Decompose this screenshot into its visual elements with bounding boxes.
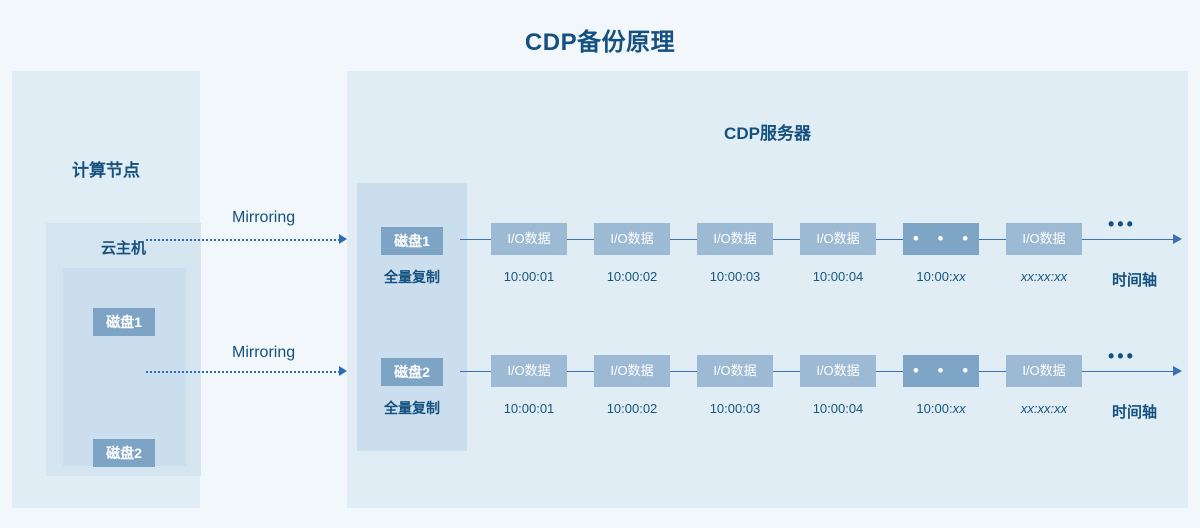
io-timestamp: 10:00:04 [786, 401, 890, 416]
server-disk-1-chip[interactable]: 磁盘1 [381, 227, 443, 255]
timeline-axis-label-row-1: 时间轴 [1112, 269, 1157, 290]
mirroring-arrow-row-2 [339, 366, 347, 376]
io-box-label: I/O数据 [507, 363, 550, 378]
io-timestamp-text: 10:00:01 [504, 401, 555, 416]
io-timestamp: 10:00:02 [580, 269, 684, 284]
mirroring-label-row-1: Mirroring [232, 209, 295, 227]
io-box-label: I/O数据 [507, 231, 550, 246]
io-timestamp: xx:xx:xx [992, 401, 1096, 416]
diagram-canvas: CDP备份原理 计算节点 云主机 磁盘1 磁盘2 Mirroring Mirro… [0, 0, 1200, 528]
io-box-label: I/O数据 [610, 231, 653, 246]
io-timestamp-italic: xx [953, 401, 966, 416]
io-timestamp-text: 10:00:04 [813, 401, 864, 416]
io-timestamp-text: 10:00:03 [710, 269, 761, 284]
io-box-label: • • • [907, 355, 975, 387]
io-box[interactable]: I/O数据 [594, 223, 670, 255]
io-box-label: • • • [907, 223, 975, 255]
io-box[interactable]: I/O数据 [697, 223, 773, 255]
io-timestamp: 10:00:01 [477, 401, 581, 416]
io-timestamp-text: 10:00:01 [504, 269, 555, 284]
cdp-server-panel: CDP服务器 磁盘1 全量复制 磁盘2 全量复制 I/O数据 I/O数据 I/O… [347, 71, 1188, 508]
io-timestamp-text: 10:00:03 [710, 401, 761, 416]
io-box-ellipsis[interactable]: • • • [903, 223, 979, 255]
mirroring-line-row-2 [146, 371, 340, 373]
io-timestamp: 10:00:02 [580, 401, 684, 416]
io-box-label: I/O数据 [713, 363, 756, 378]
io-timestamp-italic: xx:xx:xx [1021, 401, 1067, 416]
io-box-label: I/O数据 [713, 231, 756, 246]
io-box[interactable]: I/O数据 [1006, 355, 1082, 387]
io-timestamp-text: 10:00:04 [813, 269, 864, 284]
cdp-server-title: CDP服务器 [347, 119, 1188, 144]
io-box[interactable]: I/O数据 [800, 355, 876, 387]
timeline-tail-dots-row-1: ••• [1108, 215, 1136, 233]
io-timestamp-text: 10:00:02 [607, 269, 658, 284]
replication-label-row-2: 全量复制 [357, 398, 467, 418]
io-box[interactable]: I/O数据 [594, 355, 670, 387]
io-box-ellipsis[interactable]: • • • [903, 355, 979, 387]
io-timestamp: 10:00:xx [889, 269, 993, 284]
io-timestamp: 10:00:03 [683, 401, 787, 416]
page-title: CDP备份原理 [0, 22, 1200, 57]
io-timestamp-text: 10:00: [916, 269, 952, 284]
timeline-tail-dots-row-2: ••• [1108, 347, 1136, 365]
io-timestamp: 10:00:xx [889, 401, 993, 416]
timeline-arrow-row-2 [1173, 366, 1182, 376]
io-timestamp-italic: xx:xx:xx [1021, 269, 1067, 284]
cloud-host-panel: 云主机 磁盘1 磁盘2 [46, 223, 201, 476]
io-box-label: I/O数据 [816, 363, 859, 378]
io-timestamp: 10:00:01 [477, 269, 581, 284]
replication-column: 磁盘1 全量复制 磁盘2 全量复制 [357, 183, 467, 451]
io-timestamp-text: 10:00:02 [607, 401, 658, 416]
io-box-label: I/O数据 [610, 363, 653, 378]
io-timestamp: 10:00:03 [683, 269, 787, 284]
compute-node-panel: 计算节点 云主机 磁盘1 磁盘2 [12, 71, 200, 508]
host-disk-area: 磁盘1 磁盘2 [63, 268, 186, 466]
io-box-label: I/O数据 [1022, 231, 1065, 246]
io-timestamp: xx:xx:xx [992, 269, 1096, 284]
io-timestamp-italic: xx [953, 269, 966, 284]
host-disk-1-chip[interactable]: 磁盘1 [93, 308, 155, 336]
mirroring-line-row-1 [146, 239, 340, 241]
timeline-arrow-row-1 [1173, 234, 1182, 244]
io-box-label: I/O数据 [1022, 363, 1065, 378]
io-box-label: I/O数据 [816, 231, 859, 246]
io-timestamp-text: 10:00: [916, 401, 952, 416]
io-box[interactable]: I/O数据 [491, 223, 567, 255]
mirroring-label-row-2: Mirroring [232, 344, 295, 362]
timeline-axis-label-row-2: 时间轴 [1112, 401, 1157, 422]
io-timestamp: 10:00:04 [786, 269, 890, 284]
io-box[interactable]: I/O数据 [1006, 223, 1082, 255]
replication-label-row-1: 全量复制 [357, 267, 467, 287]
host-disk-2-chip[interactable]: 磁盘2 [93, 439, 155, 467]
server-disk-2-chip[interactable]: 磁盘2 [381, 358, 443, 386]
mirroring-arrow-row-1 [339, 234, 347, 244]
io-box[interactable]: I/O数据 [800, 223, 876, 255]
io-box[interactable]: I/O数据 [491, 355, 567, 387]
io-box[interactable]: I/O数据 [697, 355, 773, 387]
compute-node-title: 计算节点 [12, 156, 200, 181]
